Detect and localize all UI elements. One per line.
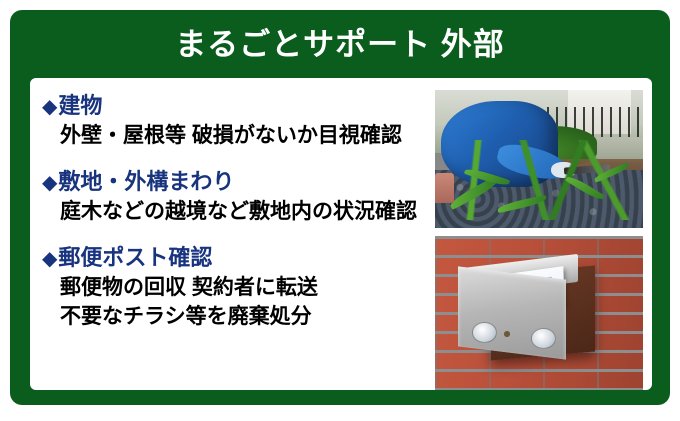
photo-mailbox-sticker: [531, 328, 556, 348]
section-mailbox: ◆郵便ポスト確認 郵便物の回収 契約者に転送 不要なチラシ等を廃棄処分: [42, 244, 434, 331]
section-detail-lines: 庭木などの越境など敷地内の状況確認: [60, 197, 434, 226]
section-heading: ◆建物: [42, 92, 434, 121]
card-content: ◆建物 外壁・屋根等 破損がないか目視確認 ◆敷地・外構まわり 庭木などの越境な…: [30, 78, 652, 390]
diamond-bullet-icon: ◆: [42, 169, 57, 197]
slide-root: まるごとサポート 外部 ◆建物 外壁・屋根等 破損がないか目視確認: [0, 0, 680, 421]
white-card: ◆建物 外壁・屋根等 破損がないか目視確認 ◆敷地・外構まわり 庭木などの越境な…: [30, 78, 652, 390]
section-heading: ◆敷地・外構まわり: [42, 168, 434, 197]
section-detail-line: 庭木などの越境など敷地内の状況確認: [60, 197, 434, 226]
photo-weeds: [435, 140, 643, 220]
section-heading-label: 建物: [58, 93, 102, 118]
section-detail-lines: 外壁・屋根等 破損がないか目視確認: [60, 121, 434, 150]
section-heading-label: 敷地・外構まわり: [58, 169, 234, 194]
section-heading-label: 郵便ポスト確認: [58, 245, 212, 270]
photo-plant-pot: [435, 173, 454, 203]
section-detail-line: 外壁・屋根等 破損がないか目視確認: [60, 121, 434, 150]
photo-column: [435, 90, 647, 390]
section-detail-line: 郵便物の回収 契約者に転送: [60, 273, 434, 302]
section-heading: ◆郵便ポスト確認: [42, 244, 434, 273]
photo-mailbox-lock: [504, 331, 510, 336]
diamond-bullet-icon: ◆: [42, 245, 57, 273]
green-frame: まるごとサポート 外部 ◆建物 外壁・屋根等 破損がないか目視確認: [10, 10, 670, 405]
mailbox-photo: [435, 236, 643, 390]
section-detail-lines: 郵便物の回収 契約者に転送 不要なチラシ等を廃棄処分: [60, 273, 434, 331]
garden-maintenance-photo: [435, 90, 643, 228]
photo-mailbox-sticker: [472, 322, 497, 342]
section-building: ◆建物 外壁・屋根等 破損がないか目視確認: [42, 92, 434, 150]
diamond-bullet-icon: ◆: [42, 93, 57, 121]
section-site-exterior: ◆敷地・外構まわり 庭木などの越境など敷地内の状況確認: [42, 168, 434, 226]
text-column: ◆建物 外壁・屋根等 破損がないか目視確認 ◆敷地・外構まわり 庭木などの越境な…: [42, 88, 434, 345]
page-title: まるごとサポート 外部: [10, 24, 670, 66]
section-detail-line: 不要なチラシ等を廃棄処分: [60, 302, 434, 331]
